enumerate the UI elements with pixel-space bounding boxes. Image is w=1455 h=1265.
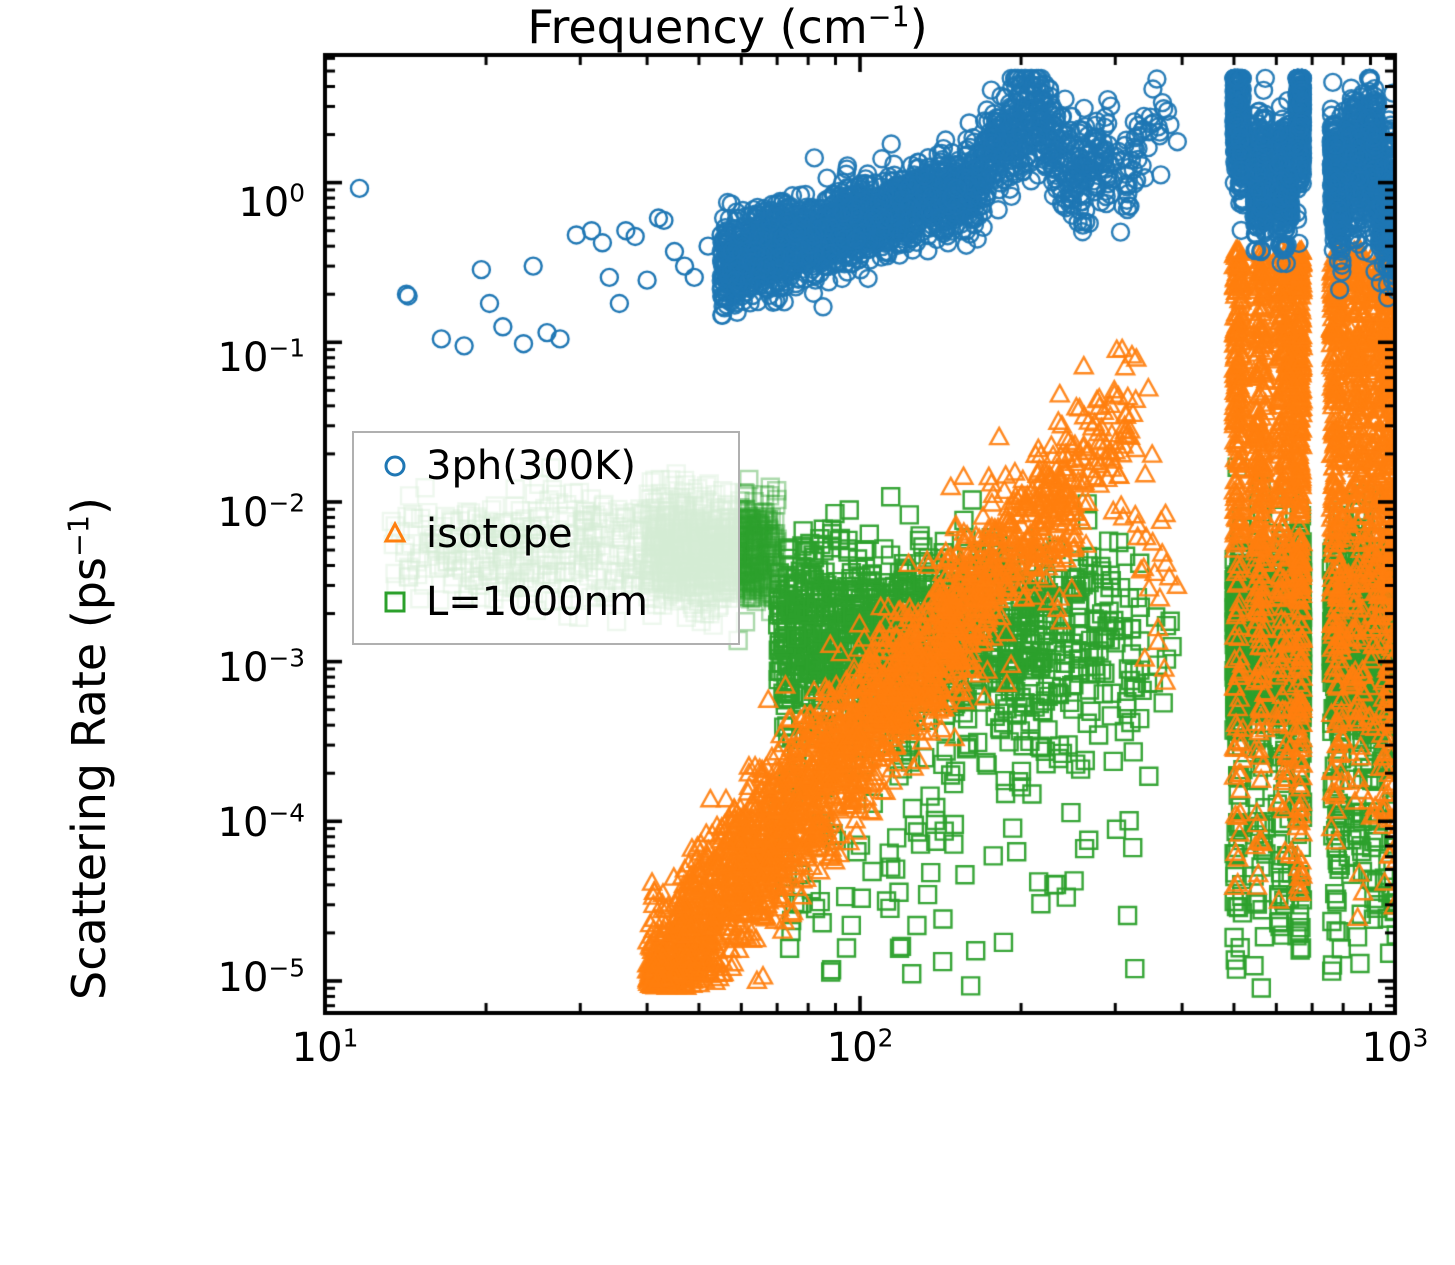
legend-entry-3ph: 3ph(300K) [372,443,636,489]
legend-label-boundary: L=1000nm [426,579,648,625]
legend-label-isotope: isotope [426,511,573,557]
legend-square-open-icon [372,582,418,622]
x-tick-label-10e2: 102 [827,1025,894,1071]
y-tick-label-10e-3: 10−3 [155,645,305,691]
legend-circle-open-icon [372,446,418,486]
legend: 3ph(300K) isotope L=1000nm [352,431,740,645]
legend-entry-isotope: isotope [372,511,573,557]
legend-label-3ph: 3ph(300K) [426,443,636,489]
x-axis-label: Frequency (cm−1) [0,0,1455,54]
legend-triangle-up-open-icon [372,514,418,554]
y-tick-label-10e-1: 10−1 [155,335,305,381]
y-tick-label-10e-2: 10−2 [155,490,305,536]
x-tick-label-10e1: 101 [292,1025,359,1071]
y-tick-label-10e0: 100 [155,180,305,226]
legend-entry-boundary: L=1000nm [372,579,648,625]
x-tick-label-10e3: 103 [1362,1025,1429,1071]
y-tick-label-10e-5: 10−5 [155,955,305,1001]
scatter-plot-figure: 101 102 103 100 10−1 10−2 10−3 10−4 10−5… [0,0,1455,1265]
y-tick-label-10e-4: 10−4 [155,800,305,846]
y-axis-label: Scattering Rate (ps−1) [62,497,116,1000]
